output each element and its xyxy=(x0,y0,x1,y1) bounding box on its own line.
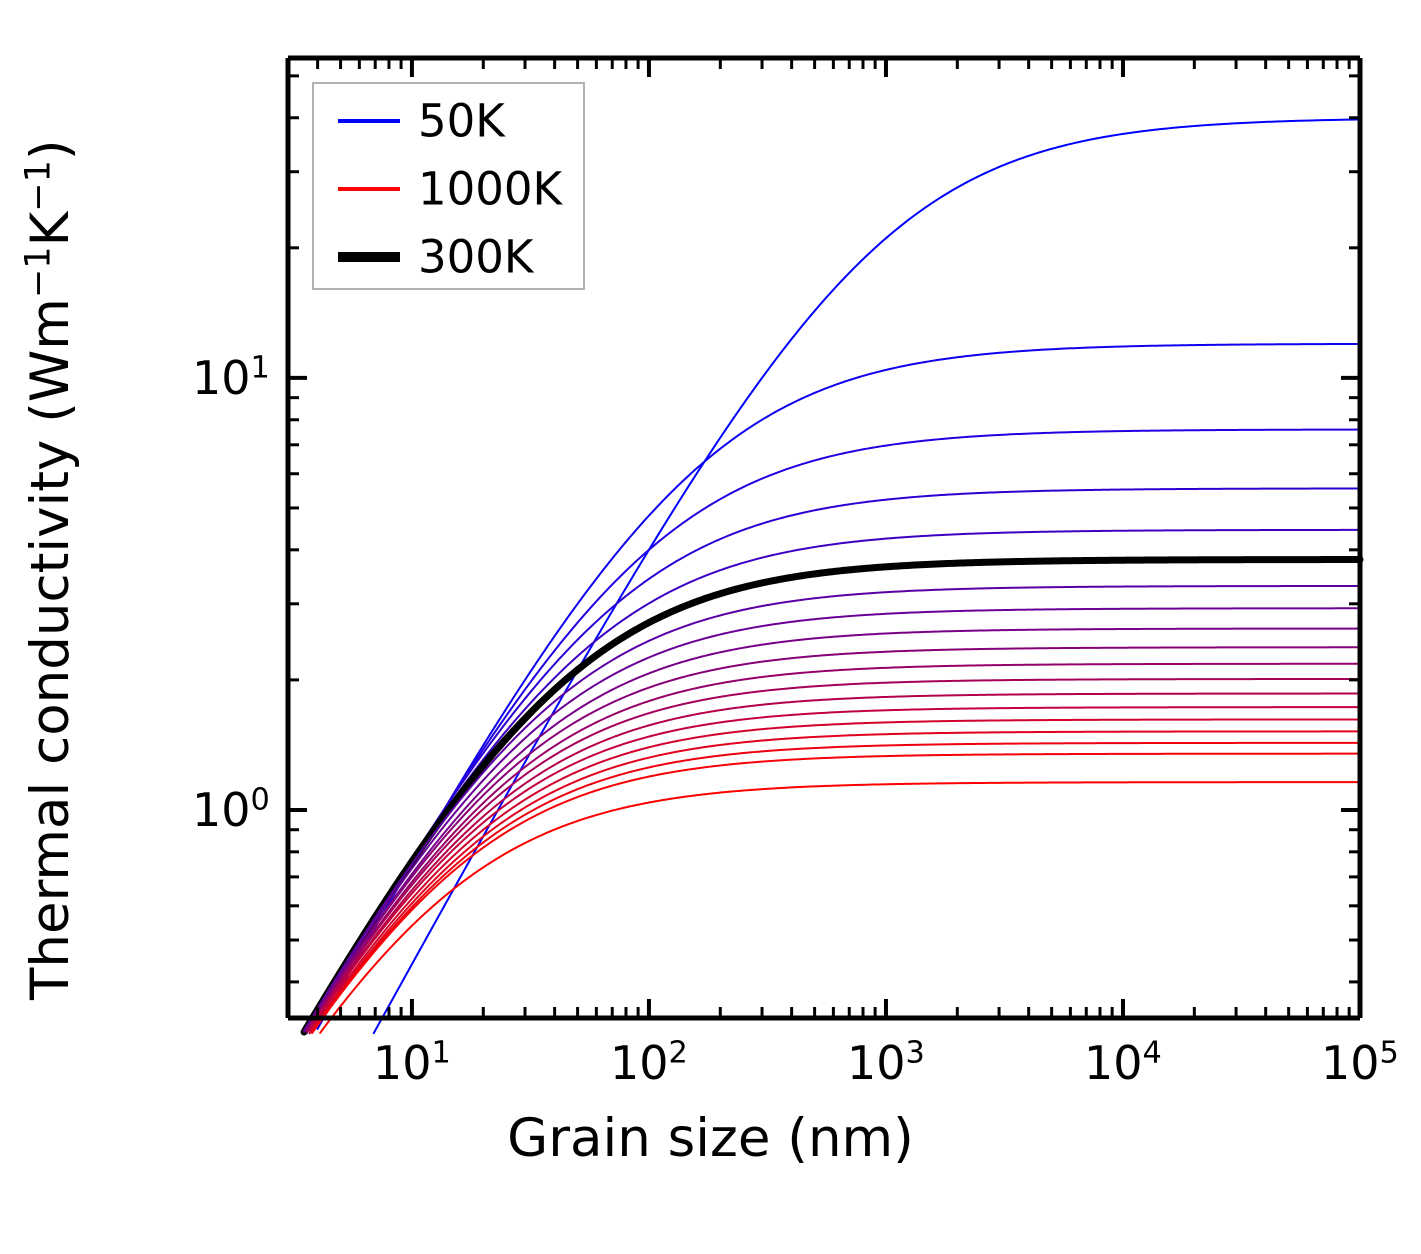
y-axis-label: Thermal conductivity (Wm−1K−1) xyxy=(18,139,81,1000)
chart-plot-area xyxy=(0,0,1421,1254)
legend: 50K 1000K 300K xyxy=(312,82,585,290)
y-tick-label: 100 xyxy=(192,783,270,837)
x-tick-label: 103 xyxy=(847,1036,925,1090)
legend-label: 1000K xyxy=(418,163,562,216)
legend-item-0: 50K xyxy=(314,88,583,154)
x-axis-label: Grain size (nm) xyxy=(0,1108,1421,1169)
x-tick-label: 101 xyxy=(373,1036,451,1090)
series-line-700K xyxy=(309,707,1360,1030)
x-tick-label: 104 xyxy=(1084,1036,1162,1090)
legend-item-1: 1000K xyxy=(314,156,583,222)
legend-swatch-line xyxy=(338,250,400,264)
legend-item-2: 300K xyxy=(314,224,583,290)
legend-swatch-line xyxy=(338,115,400,127)
legend-swatch-line xyxy=(338,183,400,195)
legend-label: 50K xyxy=(418,95,505,148)
series-line-1000K xyxy=(320,782,1360,1033)
series-line-750K xyxy=(309,719,1360,1033)
series-line-350K xyxy=(304,586,1360,1031)
legend-label: 300K xyxy=(418,231,533,284)
series-line-650K xyxy=(309,694,1360,1030)
series-line-400K xyxy=(304,608,1360,1031)
series-line-100K xyxy=(317,344,1360,1029)
y-axis-label-text: Thermal conductivity (Wm−1K−1) xyxy=(20,139,81,1000)
series-line-450K xyxy=(307,629,1360,1031)
x-tick-label: 102 xyxy=(610,1036,688,1090)
figure-canvas: Grain size (nm) Thermal conductivity (Wm… xyxy=(0,0,1421,1254)
x-tick-label: 105 xyxy=(1321,1036,1399,1090)
y-tick-label: 101 xyxy=(192,351,270,405)
series-line-150K xyxy=(312,430,1360,1032)
